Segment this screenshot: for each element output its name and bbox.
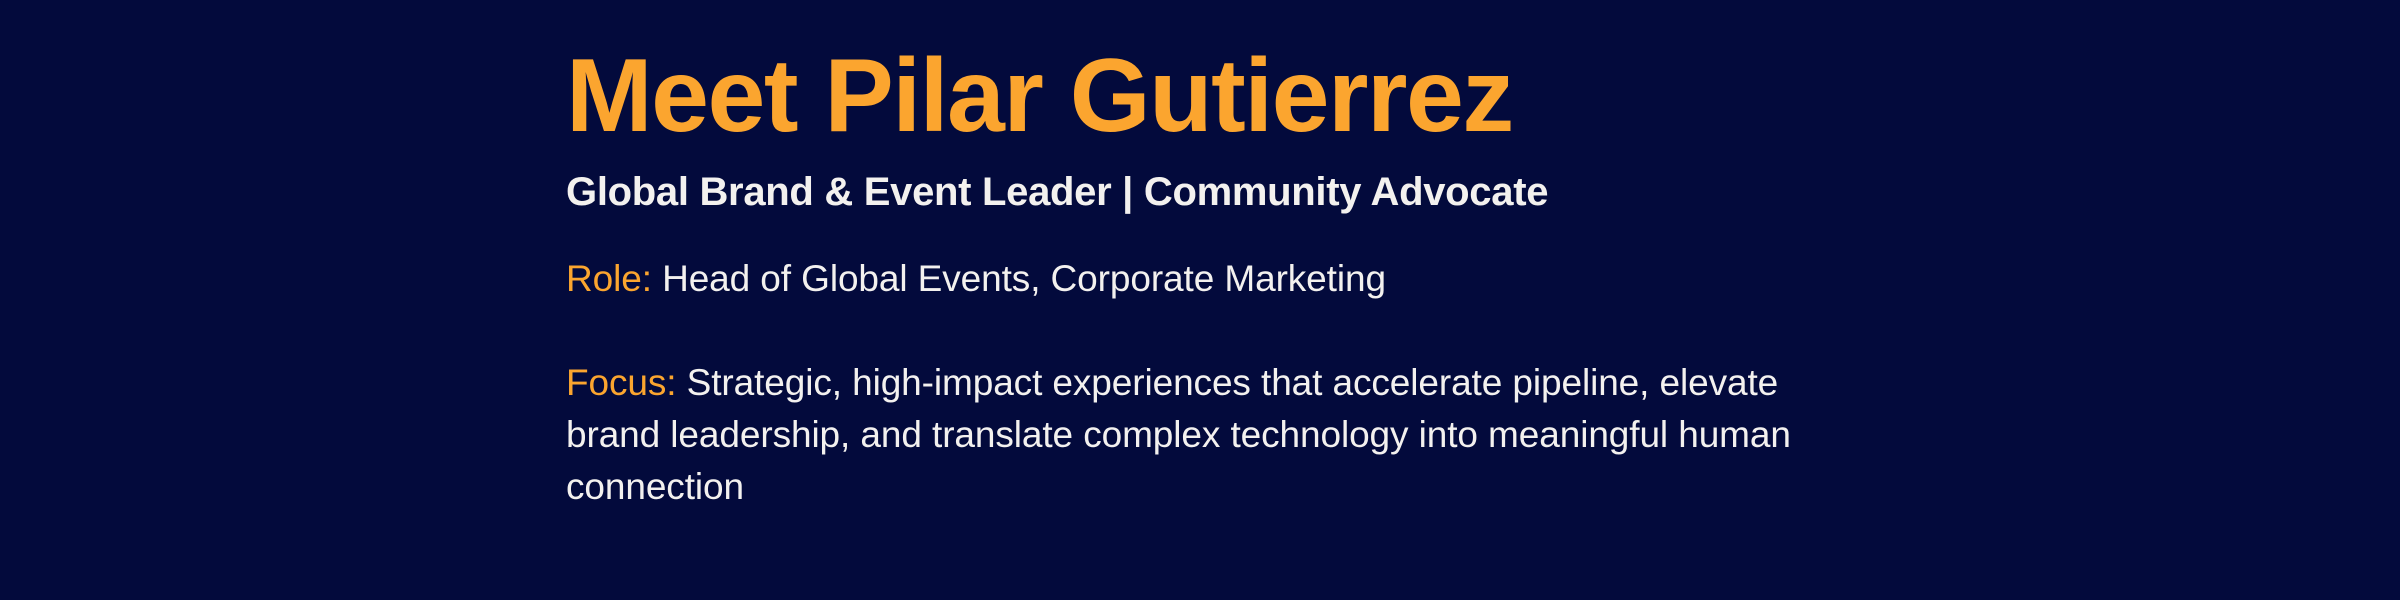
role-value: Head of Global Events, Corporate Marketi… [662, 258, 1386, 299]
slide-subtitle: Global Brand & Event Leader | Community … [566, 168, 1856, 216]
detail-row-focus: Focus: Strategic, high-impact experience… [566, 357, 1856, 513]
slide-content: Meet Pilar Gutierrez Global Brand & Even… [566, 38, 1856, 550]
detail-row-role: Role: Head of Global Events, Corporate M… [566, 253, 1856, 305]
slide-details: Role: Head of Global Events, Corporate M… [566, 253, 1856, 513]
focus-label: Focus: [566, 362, 676, 403]
intro-slide: Meet Pilar Gutierrez Global Brand & Even… [0, 0, 2400, 600]
role-label: Role: [566, 258, 652, 299]
page-title: Meet Pilar Gutierrez [566, 38, 1856, 154]
focus-value: Strategic, high-impact experiences that … [566, 362, 1791, 507]
